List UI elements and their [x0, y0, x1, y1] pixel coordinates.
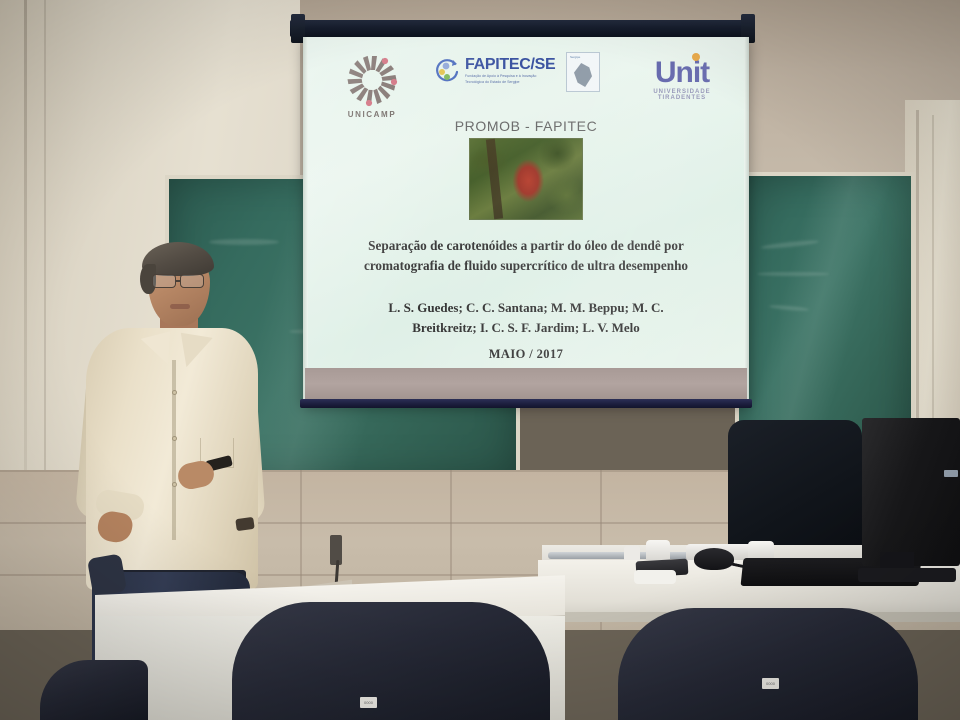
sergipe-map-shape	[574, 63, 592, 87]
glasses-bridge	[176, 280, 180, 282]
foreground-chair	[618, 608, 918, 720]
slide-title: Separação de carotenóides a partir do ól…	[336, 236, 716, 276]
screen-edge-right	[744, 37, 749, 405]
unit-logo: Unit UNIVERSIDADE TIRADENTES	[628, 58, 736, 101]
projected-slide: UNICAMP FAPITEC/SE	[308, 40, 744, 368]
slide-date: MAIO / 2017	[308, 347, 744, 362]
wristwatch	[235, 517, 254, 531]
sergipe-map-badge-icon: Sergipe	[566, 52, 600, 92]
unit-subtitle: UNIVERSIDADE TIRADENTES	[628, 89, 736, 101]
presenter-mouth	[170, 304, 190, 309]
shirt-button	[172, 390, 177, 395]
white-device	[634, 570, 676, 584]
shirt-button	[172, 436, 177, 441]
promob-label: PROMOB - FAPITEC	[308, 118, 744, 134]
foreground-chair	[232, 602, 550, 720]
fapitec-subtitle-line2: Tecnológica do Estado de Sergipe	[465, 80, 555, 85]
slide-authors: L. S. Guedes; C. C. Santana; M. M. Beppu…	[348, 298, 704, 337]
map-badge-caption: Sergipe	[570, 55, 580, 59]
fapitec-swirl-icon	[432, 56, 462, 86]
slide-title-line1: Separação de carotenóides a partir do ól…	[336, 236, 716, 256]
unicamp-logo: UNICAMP	[326, 52, 418, 119]
slide-logo-row: UNICAMP FAPITEC/SE	[308, 52, 744, 114]
screen-weight-bar	[300, 399, 752, 408]
fapitec-subtitle-line1: Fundação de Apoio à Pesquisa e à Inovaçã…	[465, 74, 555, 79]
chair-inventory-tag: 0000	[360, 697, 377, 708]
trouser-pocket	[87, 553, 127, 596]
shirt-button	[172, 482, 177, 487]
computer-monitor	[862, 418, 960, 566]
wall-seam	[24, 0, 27, 500]
palm-fruit-photo	[469, 138, 583, 220]
computer-mouse	[694, 548, 734, 570]
unicamp-wheel-icon	[344, 52, 400, 108]
wall-seam-secondary	[44, 0, 46, 470]
presenter-shirt-placket	[172, 360, 176, 540]
slide-authors-line1: L. S. Guedes; C. C. Santana; M. M. Beppu…	[348, 298, 704, 318]
slide-title-line2: cromatografia de fluido supercrítico de …	[336, 256, 716, 276]
monitor-base	[858, 568, 956, 582]
glasses-lens-right-icon	[180, 274, 204, 288]
unit-wordmark-wrap: Unit	[655, 58, 709, 88]
presentation-photo-scene: UNICAMP FAPITEC/SE	[0, 0, 960, 720]
glasses-lens-left-icon	[152, 274, 176, 288]
slide-authors-line2: Breitkreitz; I. C. S. F. Jardim; L. V. M…	[348, 318, 704, 338]
chalk-mark	[757, 272, 829, 276]
monitor-brand-badge	[944, 470, 958, 477]
screen-lower-blank-area	[305, 368, 747, 400]
foreground-chair	[40, 660, 148, 720]
unit-wordmark: Unit	[655, 56, 709, 89]
fapitec-wordmark: FAPITEC/SE	[465, 57, 555, 73]
palm-trunk	[486, 139, 503, 220]
projector-screen-mount-bar	[290, 20, 755, 37]
chair-inventory-tag: 0000	[762, 678, 779, 689]
